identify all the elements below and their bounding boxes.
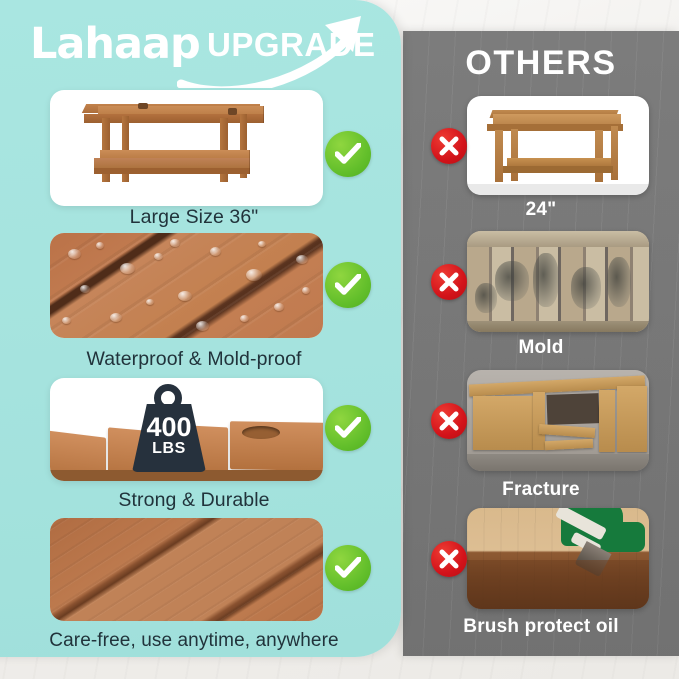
small-wooden-bench-photo bbox=[467, 96, 649, 195]
brand-name: Lahaap bbox=[30, 19, 200, 69]
upgrade-label-3: Strong & Durable bbox=[0, 489, 388, 512]
moldy-wooden-bench-photo bbox=[467, 231, 649, 332]
upgrade-card-3[interactable]: 400 LBS bbox=[50, 378, 323, 481]
console-table-product-photo bbox=[50, 90, 323, 206]
others-card-3[interactable] bbox=[467, 370, 649, 471]
status-icon-check-1 bbox=[325, 131, 371, 177]
status-icon-check-3 bbox=[325, 405, 371, 451]
status-icon-cross-3 bbox=[431, 403, 467, 439]
status-icon-cross-2 bbox=[431, 264, 467, 300]
others-card-1[interactable] bbox=[467, 96, 649, 195]
upgrade-label-2: Waterproof & Mold-proof bbox=[0, 348, 388, 371]
upgrade-card-2[interactable] bbox=[50, 233, 323, 338]
others-label-4: Brush protect oil bbox=[403, 616, 679, 638]
status-icon-cross-1 bbox=[431, 128, 467, 164]
brand-upgrade-label: UPGRADE bbox=[207, 26, 376, 64]
table-top-with-weight-badge: 400 LBS bbox=[50, 378, 323, 481]
upgrade-card-1[interactable] bbox=[50, 90, 323, 206]
upgrade-card-4[interactable] bbox=[50, 518, 323, 621]
smooth-composite-deck-closeup bbox=[50, 518, 323, 621]
upgrade-label-1: Large Size 36" bbox=[0, 206, 388, 229]
others-label-1: 24" bbox=[403, 199, 679, 221]
status-icon-check-2 bbox=[325, 262, 371, 308]
status-icon-cross-4 bbox=[431, 541, 467, 577]
hand-brushing-oil-on-wood-photo bbox=[467, 508, 649, 609]
others-label-3: Fracture bbox=[403, 479, 679, 501]
weight-unit: LBS bbox=[132, 440, 206, 458]
others-title: OTHERS bbox=[403, 44, 679, 83]
weight-value: 400 bbox=[132, 412, 206, 443]
water-beading-deck-closeup bbox=[50, 233, 323, 338]
others-label-2: Mold bbox=[403, 337, 679, 359]
broken-wooden-bench-photo bbox=[467, 370, 649, 471]
others-card-4[interactable] bbox=[467, 508, 649, 609]
upgrade-label-4: Care-free, use anytime, anywhere bbox=[0, 630, 388, 652]
others-card-2[interactable] bbox=[467, 231, 649, 332]
status-icon-check-4 bbox=[325, 545, 371, 591]
brand-lockup: Lahaap UPGRADE bbox=[22, 12, 382, 78]
